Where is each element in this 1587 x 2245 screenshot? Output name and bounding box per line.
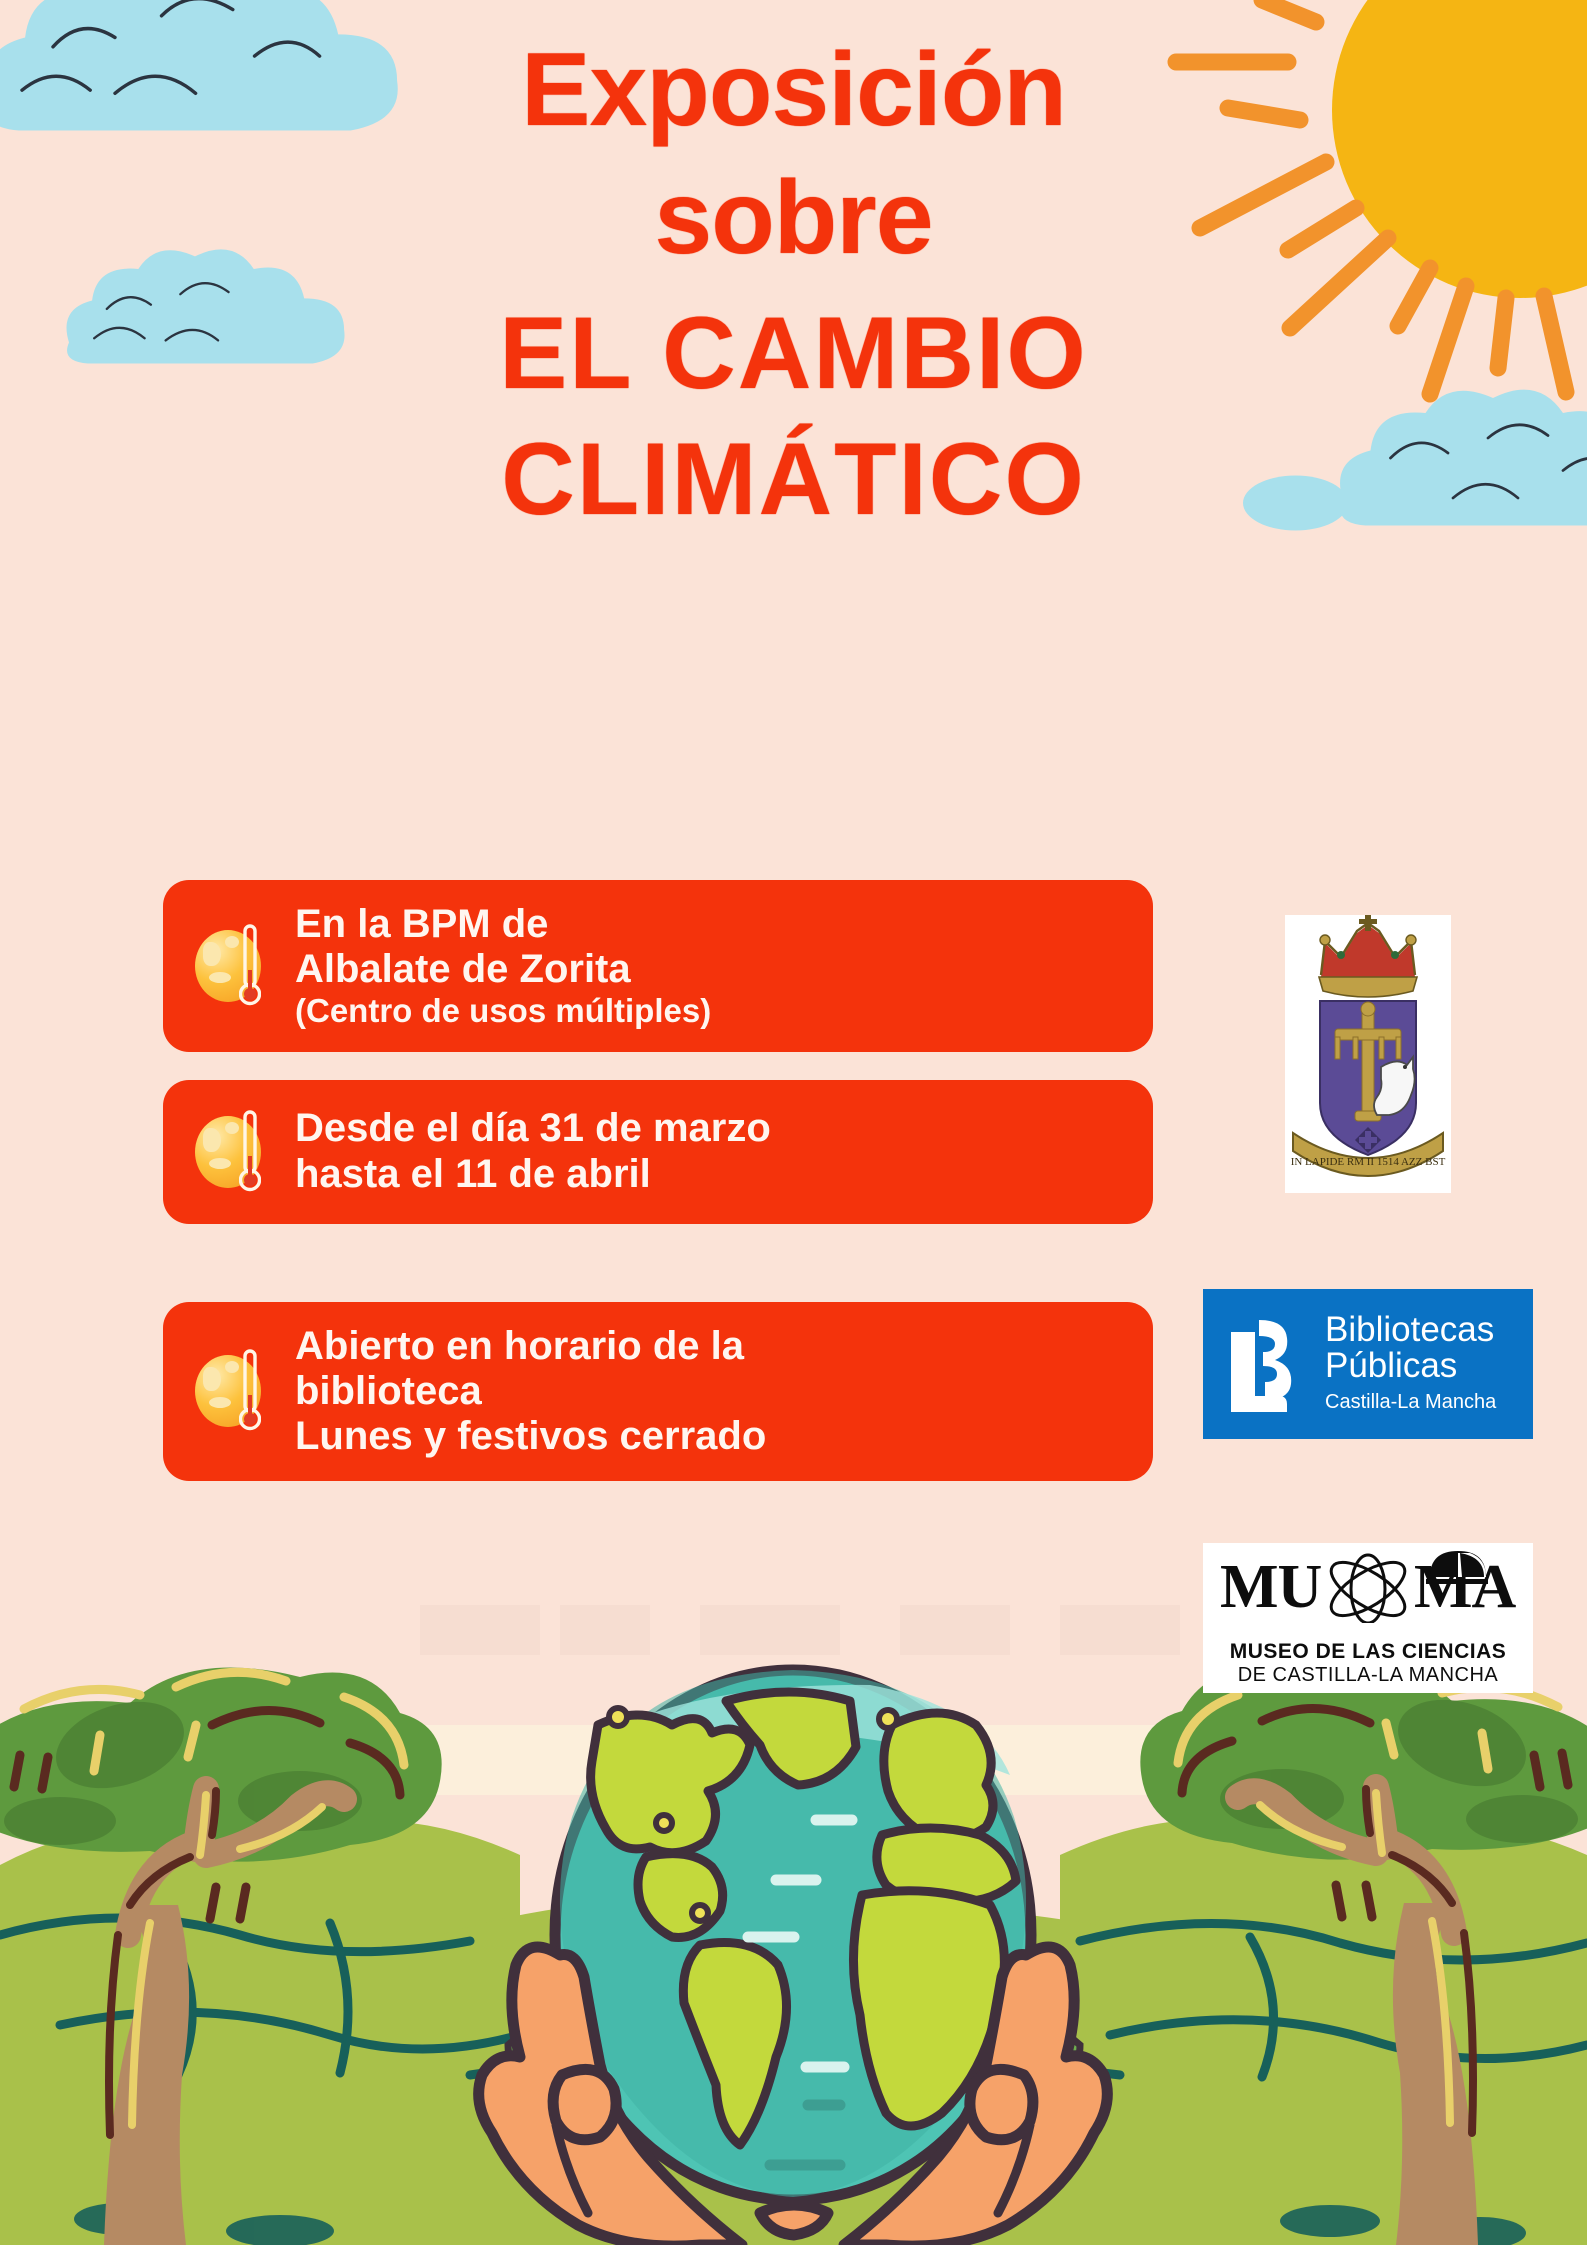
info-box-list: En la BPM de Albalate de Zorita (Centro … [163, 880, 1153, 1509]
info-line-3: (Centro de usos múltiples) [295, 992, 711, 1029]
info-box-hours: Abierto en horario de la biblioteca Lune… [163, 1302, 1153, 1482]
title-line-3: EL CAMBIO [0, 304, 1587, 404]
info-line-2: Albalate de Zorita [295, 947, 711, 992]
shield-icon [1320, 1001, 1416, 1155]
museo-line-1: MUSEO DE LAS CIENCIAS [1230, 1640, 1507, 1664]
crown-icon [1319, 915, 1417, 997]
lb-monogram-icon [1225, 1312, 1311, 1416]
info-line-2: biblioteca [295, 1369, 766, 1414]
info-box-location: En la BPM de Albalate de Zorita (Centro … [163, 880, 1153, 1052]
poster-title: Exposición sobre EL CAMBIO CLIMÁTICO [0, 40, 1587, 530]
bibliotecas-line-3: Castilla-La Mancha [1325, 1388, 1496, 1416]
globe-thermometer-icon [189, 1102, 281, 1202]
bottom-illustration [0, 1605, 1587, 2245]
info-box-dates: Desde el día 31 de marzo hasta el 11 de … [163, 1080, 1153, 1224]
globe-thermometer-icon [189, 1341, 281, 1441]
bibliotecas-line-1: Bibliotecas [1325, 1312, 1496, 1348]
town-crest-logo: IN LAPIDE RM II 1514 AZZ BST [1285, 915, 1451, 1193]
bibliotecas-publicas-logo: Bibliotecas Públicas Castilla-La Mancha [1203, 1289, 1533, 1439]
logo-column: IN LAPIDE RM II 1514 AZZ BST Bibliotecas… [1203, 915, 1533, 1693]
info-line-1: Abierto en horario de la [295, 1324, 766, 1369]
crest-motto: IN LAPIDE RM II 1514 AZZ BST [1291, 1156, 1446, 1168]
museo-ciencias-logo: MU MA MUSEO [1203, 1543, 1533, 1693]
info-line-2: hasta el 11 de abril [295, 1152, 771, 1197]
info-line-1: Desde el día 31 de marzo [295, 1106, 771, 1151]
globe-thermometer-icon [189, 916, 281, 1016]
title-line-2: sobre [0, 168, 1587, 270]
museo-line-2: DE CASTILLA-LA MANCHA [1238, 1664, 1499, 1687]
title-line-1: Exposición [0, 40, 1587, 142]
info-line-1: En la BPM de [295, 902, 711, 947]
poster-root: Exposición sobre EL CAMBIO CLIMÁTICO En … [0, 0, 1587, 2245]
mucma-left: MU [1220, 1553, 1322, 1621]
mucma-wordmark: MU MA [1218, 1549, 1518, 1632]
title-line-4: CLIMÁTICO [0, 430, 1587, 530]
bibliotecas-line-2: Públicas [1325, 1348, 1496, 1384]
atom-icon [1323, 1552, 1412, 1623]
info-line-3: Lunes y festivos cerrado [295, 1414, 766, 1459]
city-skyline [420, 1605, 1180, 1655]
